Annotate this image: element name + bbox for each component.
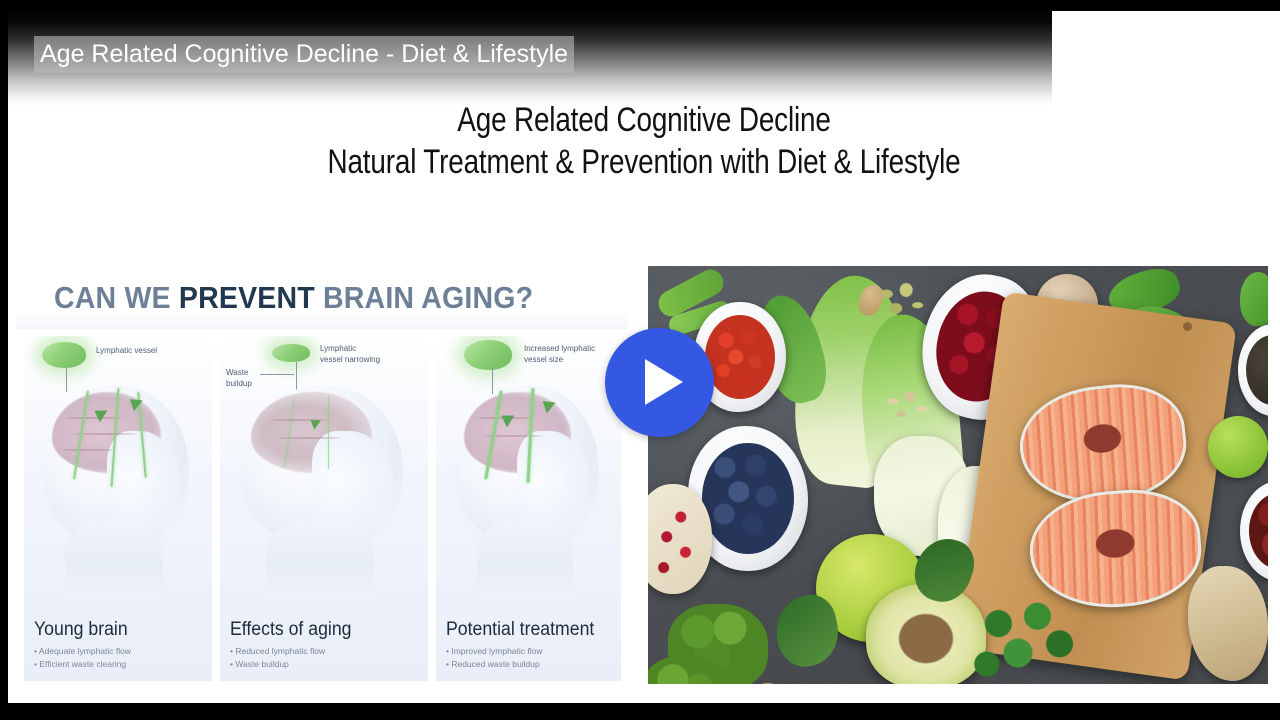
brain-aging-infographic: CAN WE PREVENT BRAIN AGING? Lymphatic ve… [16,266,628,684]
brain-head-illustration-2 [220,372,428,597]
panel2-callout-1: vessel narrowing [320,355,380,365]
board-hole [1183,322,1192,331]
letterbox-bottom [0,703,1280,720]
panel3-bullet-1: • Reduced waste buildup [446,658,615,671]
healthy-food-photo [648,266,1268,684]
slide-title-line2: Natural Treatment & Prevention with Diet… [122,141,1165,183]
kidney-beans [1249,493,1268,569]
parsley [966,596,1096,684]
panel2-bullet-0: • Reduced lymphatic flow [230,645,422,658]
play-icon [645,359,683,405]
green-pepper [1240,272,1268,326]
goji-berries [705,315,775,399]
slide-canvas: Age Related Cognitive Decline Natural Tr… [8,11,1280,692]
panel3-callout-0: Increased lymphatic [524,344,595,354]
video-title[interactable]: Age Related Cognitive Decline - Diet & L… [34,36,574,73]
panel1-bullet-0-text: Adequate lymphatic flow [39,646,131,656]
lymphatic-vessel-line [328,397,329,469]
pine-nuts [880,388,938,424]
panel1-title: Young brain [34,619,194,641]
panel3-callout-1: vessel size [524,355,563,365]
heading-part2: BRAIN AGING? [315,280,533,315]
panel1-bullet-0: • Adequate lymphatic flow [34,645,206,658]
letterbox-top [0,0,1280,11]
neck-shape [477,521,573,598]
infographic-header: CAN WE PREVENT BRAIN AGING? [16,266,628,329]
panel3-caption: Potential treatment • Improved lymphatic… [446,619,615,671]
infographic-panel-young-brain: Lymphatic vessel [24,336,212,681]
panel1-bullet-1: • Efficient waste clearing [34,658,206,671]
chia-seeds [1246,335,1268,405]
lymphatic-vessel-icon [42,342,86,368]
panel2-bullet-0-text: Reduced lymphatic flow [235,646,325,656]
blueberries [702,443,793,553]
panel3-bullet-0-text: Improved lymphatic flow [451,646,542,656]
panel3-bullet-0: • Improved lymphatic flow [446,645,615,658]
panel2-bullet-1: • Waste buildup [230,658,422,671]
panel3-title: Potential treatment [446,619,603,641]
letterbox-left [0,0,8,720]
slide-title-line1: Age Related Cognitive Decline [122,99,1165,141]
panel1-caption: Young brain • Adequate lymphatic flow • … [34,619,206,671]
panel1-bullet-1-text: Efficient waste clearing [39,659,126,669]
narrowed-lymphatic-vessel-icon [272,344,310,362]
enlarged-lymphatic-vessel-icon [464,340,512,370]
page-title: Age Related Cognitive Decline Natural Tr… [8,99,1280,183]
play-button[interactable] [605,328,714,437]
neck-shape [65,521,163,598]
heading-emphasis: PREVENT [179,280,315,315]
heading-part1: CAN WE [54,280,179,315]
panel2-bullet-1-text: Waste buildup [235,659,289,669]
panel2-title: Effects of aging [230,619,409,641]
panel3-bullet-1-text: Reduced waste buildup [451,659,539,669]
neck-shape [266,521,374,598]
infographic-panel-potential-treatment: Increased lymphatic vessel size [436,336,621,681]
brain-head-illustration-3 [436,372,621,597]
panel2-callout-0: Lymphatic [320,344,356,354]
infographic-heading: CAN WE PREVENT BRAIN AGING? [54,280,533,316]
lime [1208,416,1268,478]
panel1-callout-0: Lymphatic vessel [96,346,157,356]
video-player-frame: Age Related Cognitive Decline Natural Tr… [0,0,1280,720]
brain-head-illustration-1 [24,372,212,597]
gyrus-line [73,433,137,435]
video-stage[interactable]: Age Related Cognitive Decline Natural Tr… [8,11,1280,703]
gyrus-line [62,449,115,451]
panel2-caption: Effects of aging • Reduced lymphatic flo… [230,619,422,671]
pumpkin-seeds [876,282,928,322]
infographic-panel-effects-of-aging: Lymphatic vessel narrowing Waste buildup [220,336,428,681]
